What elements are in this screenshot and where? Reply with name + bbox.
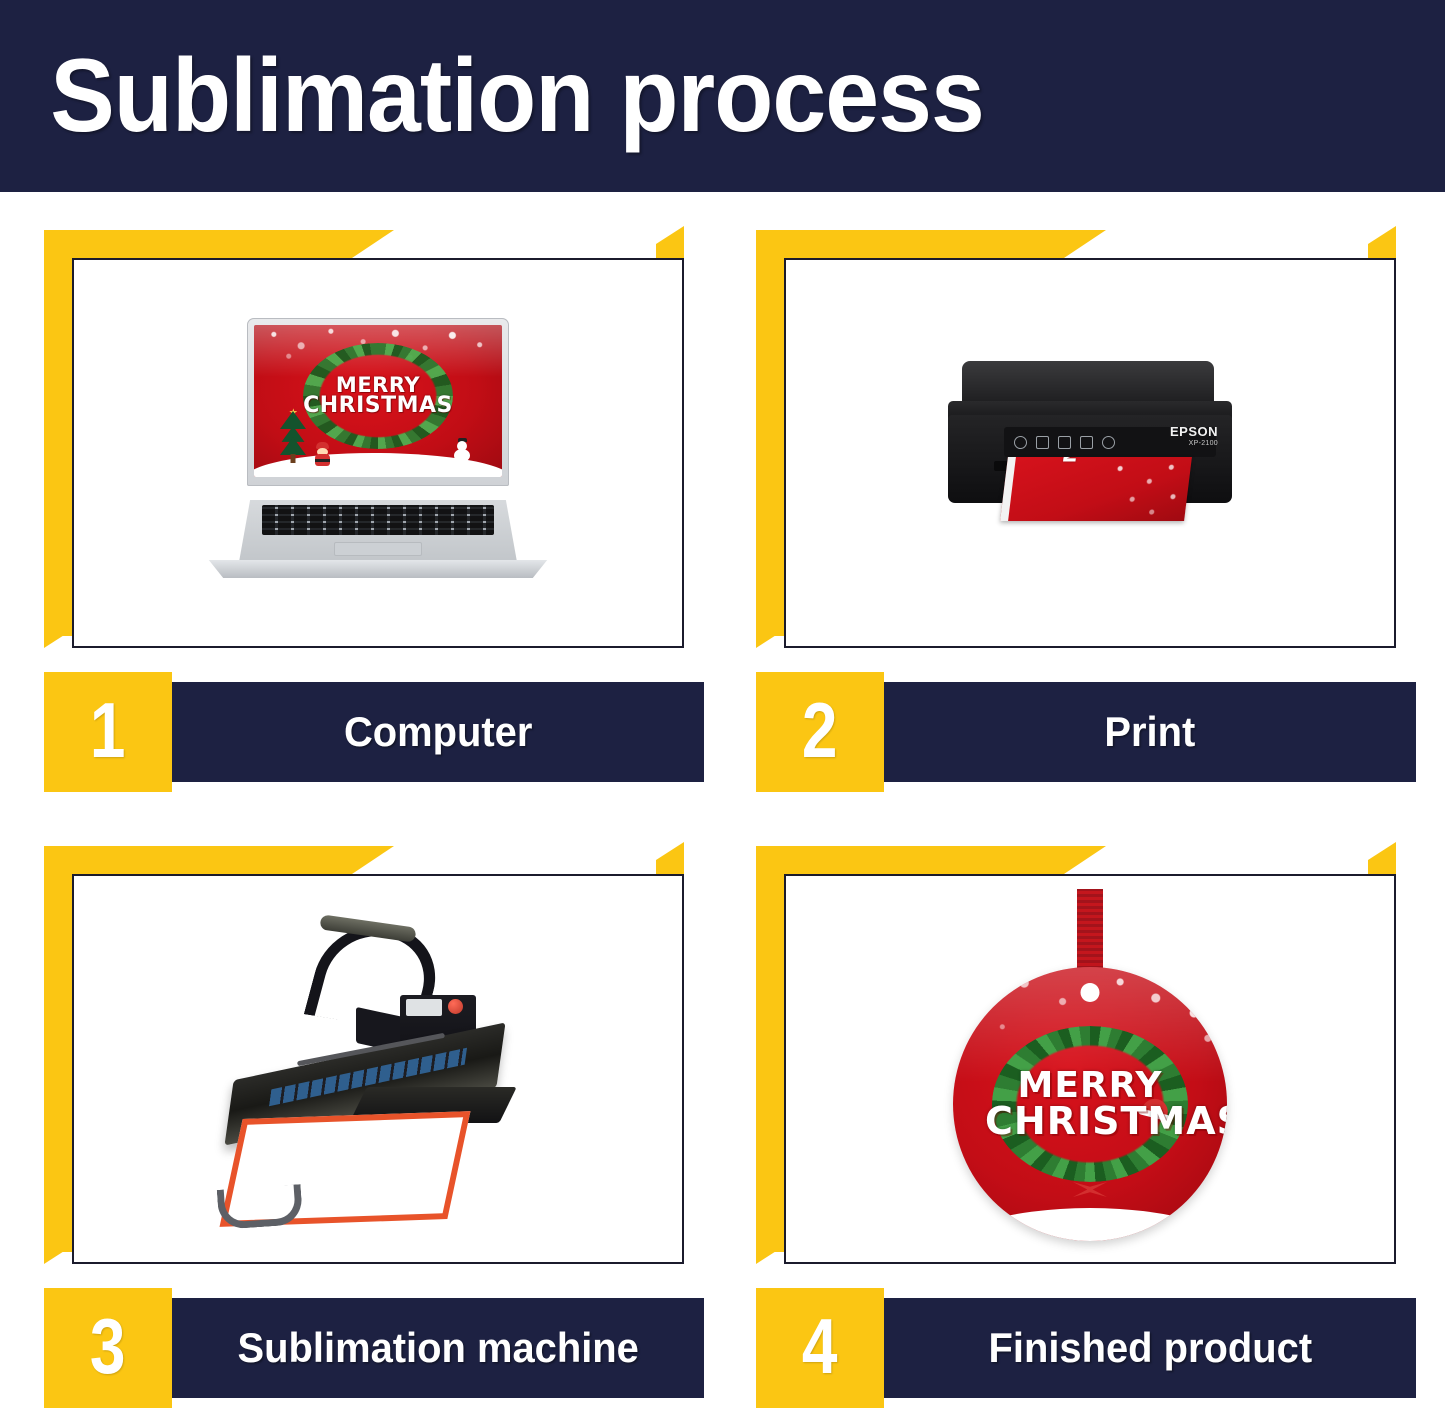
corner-bracket-top-icon	[756, 230, 1106, 258]
step-card-3[interactable]: 3 Sublimation machine	[0, 808, 712, 1424]
printed-snowflakes-icon	[1096, 457, 1192, 521]
heat-press-illustration	[208, 919, 548, 1219]
ornament-snow-base	[953, 1208, 1227, 1241]
step-number-badge-1: 1	[44, 672, 172, 792]
step-card-2[interactable]: EPSON XP-2100 MERRY CHRISTMAS 2	[712, 192, 1424, 808]
photo-laptop: MERRY CHRISTMAS	[72, 258, 684, 648]
copy-color-button-icon[interactable]	[1080, 436, 1093, 449]
step-caption-bar-2: Print	[884, 682, 1416, 782]
step-card-1[interactable]: MERRY CHRISTMAS	[0, 192, 712, 808]
corner-bracket-left-foot-icon	[44, 1224, 72, 1264]
step-number-badge-3: 3	[44, 1288, 172, 1408]
step-number-1: 1	[90, 691, 126, 769]
printer-illustration: EPSON XP-2100 MERRY CHRISTMAS	[940, 353, 1240, 553]
step-label-4[interactable]: 4 Finished product	[756, 1288, 1416, 1408]
ornament-line-2: CHRISTMAS	[985, 1103, 1195, 1139]
press-knob-icon[interactable]	[448, 999, 463, 1014]
step-number-2: 2	[802, 691, 838, 769]
power-button-icon[interactable]	[1014, 436, 1027, 449]
laptop-base	[187, 484, 569, 588]
photo-heat-press	[72, 874, 684, 1264]
corner-bracket-top-left-icon	[756, 846, 784, 1252]
photo-frame-3	[44, 832, 684, 1264]
laptop-lid: MERRY CHRISTMAS	[247, 318, 509, 486]
photo-printer: EPSON XP-2100 MERRY CHRISTMAS	[784, 258, 1396, 648]
santa-icon	[314, 442, 331, 466]
corner-bracket-top-icon	[44, 230, 394, 258]
step-caption-bar-3: Sublimation machine	[172, 1298, 704, 1398]
laptop-illustration: MERRY CHRISTMAS	[187, 318, 569, 588]
steps-grid: MERRY CHRISTMAS	[0, 192, 1445, 1424]
step-number-4: 4	[802, 1307, 838, 1385]
ornament-illustration: MERRY CHRISTMAS	[940, 889, 1240, 1249]
photo-frame-4: MERRY CHRISTMAS	[756, 832, 1396, 1264]
stop-button-icon[interactable]	[1102, 436, 1115, 449]
laptop-deck	[239, 500, 517, 562]
screen-greeting-text: MERRY CHRISTMAS	[298, 377, 458, 417]
laptop-trackpad	[334, 542, 422, 556]
step-label-1[interactable]: 1 Computer	[44, 672, 704, 792]
step-label-3[interactable]: 3 Sublimation machine	[44, 1288, 704, 1408]
corner-bracket-top-icon	[44, 846, 394, 874]
step-number-badge-2: 2	[756, 672, 884, 792]
printed-sheet-text: MERRY CHRISTMAS	[1062, 457, 1101, 463]
paper-button-icon[interactable]	[1036, 436, 1049, 449]
snowman-icon	[454, 438, 470, 462]
ornament-greeting-text: MERRY CHRISTMAS	[985, 1069, 1195, 1139]
photo-frame-2: EPSON XP-2100 MERRY CHRISTMAS	[756, 216, 1396, 648]
copy-bw-button-icon[interactable]	[1058, 436, 1071, 449]
ornament-line-1: MERRY	[985, 1069, 1195, 1103]
printer-brand-label: EPSON	[1170, 424, 1218, 439]
greeting-line-2: CHRISTMAS	[298, 396, 458, 416]
step-label-2[interactable]: 2 Print	[756, 672, 1416, 792]
corner-bracket-left-foot-icon	[756, 608, 784, 648]
corner-bracket-top-left-icon	[756, 230, 784, 636]
printer-model-label: XP-2100	[1189, 440, 1218, 447]
laptop-screen: MERRY CHRISTMAS	[254, 325, 502, 477]
ornament-bow-icon	[1073, 1182, 1107, 1197]
christmas-tree-icon	[276, 411, 310, 463]
laptop-keyboard	[262, 505, 494, 535]
laptop-front-edge	[198, 560, 558, 578]
printed-sheet: MERRY CHRISTMAS	[1000, 457, 1192, 521]
step-card-4[interactable]: MERRY CHRISTMAS 4 Finished product	[712, 808, 1424, 1424]
step-caption-bar-1: Computer	[172, 682, 704, 782]
step-caption-1: Computer	[344, 708, 532, 756]
step-caption-2: Print	[1105, 708, 1196, 756]
corner-bracket-top-left-icon	[44, 846, 72, 1252]
press-display	[406, 999, 442, 1016]
step-number-badge-4: 4	[756, 1288, 884, 1408]
step-caption-3: Sublimation machine	[237, 1324, 638, 1372]
photo-frame-1: MERRY CHRISTMAS	[44, 216, 684, 648]
corner-bracket-top-left-icon	[44, 230, 72, 636]
ornament-disc: MERRY CHRISTMAS	[953, 967, 1227, 1241]
step-number-3: 3	[90, 1307, 126, 1385]
photo-ornament: MERRY CHRISTMAS	[784, 874, 1396, 1264]
corner-bracket-left-foot-icon	[44, 608, 72, 648]
step-caption-4: Finished product	[988, 1324, 1312, 1372]
page-title: Sublimation process	[0, 44, 984, 148]
step-caption-bar-4: Finished product	[884, 1298, 1416, 1398]
header-banner: Sublimation process	[0, 0, 1445, 192]
corner-bracket-top-icon	[756, 846, 1106, 874]
ornament-hanging-hole	[1081, 983, 1100, 1002]
corner-bracket-left-foot-icon	[756, 1224, 784, 1264]
